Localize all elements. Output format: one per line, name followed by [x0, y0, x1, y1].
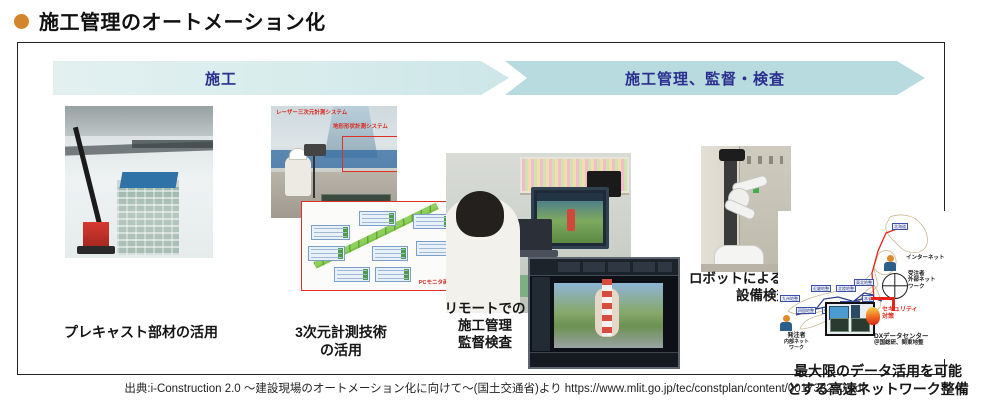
source-footer: 出典:i-Construction 2.0 〜建設現場のオートメーション化に向け… [0, 380, 989, 396]
content-panel: 施工 施工管理、監督・検査 プレキャスト部材の活用 レーザー三次元計測システム … [17, 42, 945, 375]
bureau-label: 四国地整 [796, 307, 816, 314]
label-security-line2: 対策 [882, 314, 918, 321]
measuring-staff [602, 279, 612, 336]
orderer-user-icon [780, 315, 792, 331]
laser-scanner-tripod [313, 154, 315, 198]
firewall-icon [865, 307, 880, 326]
label-security: セキュリティ 対策 [882, 307, 918, 321]
field-video-feed [554, 283, 664, 348]
page-title-text: 施工管理のオートメーション化 [39, 6, 326, 35]
label-security-line1: セキュリティ [882, 307, 918, 314]
caption-3d-measurement-line1: 3次元計測技術 [266, 324, 416, 342]
phase-banner-row: 施工 施工管理、監督・検査 [53, 61, 925, 95]
data-callout [375, 267, 412, 282]
precast-building [117, 180, 179, 255]
robot-camera-head [719, 149, 745, 161]
data-callout [311, 225, 349, 240]
label-orderer-network-line3: ワーク [784, 346, 809, 352]
diagram-national-network: 九州地整 近畿地整 四国地整 中国地整 中部地整 北陸地整 本省 東北地整 北海… [778, 211, 953, 359]
bureau-label: 九州地整 [780, 295, 800, 302]
caption-remote-management-line3: 監督検査 [437, 335, 533, 352]
label-internet: インターネット [906, 255, 945, 261]
worker-figure [285, 156, 311, 196]
photo-precast-construction [65, 106, 213, 258]
label-orderer-network: 発注者 内部ネット ワーク [784, 333, 809, 351]
bureau-label: 近畿地整 [811, 285, 831, 292]
screen-sidebar [532, 277, 550, 351]
phase-banner-construction-label: 施工 [205, 68, 237, 89]
contractor-user-icon [884, 255, 896, 271]
label-datacenter: DXデータセンター ＠国総研、関東地整 [874, 333, 929, 347]
caption-remote-management-line2: 施工管理 [437, 318, 533, 335]
road-line-secondary [132, 140, 213, 148]
highlight-box-terrain [342, 136, 397, 172]
crane-track [77, 246, 115, 254]
user-body-icon [884, 262, 896, 271]
caption-3d-measurement: 3次元計測技術 の活用 [266, 324, 416, 359]
operator-figure [446, 197, 520, 313]
user-head-icon [783, 315, 790, 322]
user-head-icon [887, 255, 894, 262]
data-callout [334, 267, 371, 282]
caption-precast: プレキャスト部材の活用 [46, 324, 236, 342]
screen-toolbar [530, 259, 678, 276]
label-contractor-network-line3: ワーク [908, 284, 936, 290]
caption-3d-measurement-line2: の活用 [266, 342, 416, 360]
label-contractor-network: 受注者 外部ネット ワーク [908, 271, 936, 290]
label-contractor-network-line2: 外部ネット [908, 277, 936, 283]
building-blue-top [120, 172, 179, 188]
annotation-terrain-system: 地形形状計測システム [333, 122, 388, 130]
data-callout [308, 246, 345, 261]
photo-remote-inspection-screen [528, 257, 680, 369]
monitor-toolbar [537, 193, 603, 201]
label-datacenter-line2: ＠国総研、関東地整 [874, 340, 929, 346]
globe-icon [882, 273, 908, 299]
phase-banner-management-inspection: 施工管理、監督・検査 [505, 61, 925, 95]
data-callout [359, 211, 396, 226]
phase-banner-management-inspection-label: 施工管理、監督・検査 [625, 68, 785, 89]
bureau-label: 東北地整 [854, 279, 874, 286]
bureau-label: 北陸地整 [836, 285, 856, 292]
caption-remote-management: リモートでの 施工管理 監督検査 [437, 301, 533, 352]
caption-network-line1: 最大限のデータ活用を可能 [763, 363, 989, 381]
data-callout [372, 246, 409, 261]
bureau-label: 北海道 [892, 223, 908, 230]
caption-remote-management-line1: リモートでの [437, 301, 533, 318]
diagram-3d-truss-model: PCモニタ画面 [301, 201, 461, 291]
operator-head [456, 191, 504, 237]
tree-line [65, 106, 213, 136]
screen-statusbar [530, 352, 678, 367]
page-title: 施工管理のオートメーション化 [14, 6, 326, 35]
annotation-laser-system: レーザー三次元計測システム [276, 108, 347, 116]
user-body-icon [780, 322, 792, 331]
datacenter-server-icon [830, 318, 849, 332]
monitor-subject [567, 209, 575, 231]
bullet-dot-icon [14, 14, 29, 29]
phase-banner-construction: 施工 [53, 61, 509, 95]
